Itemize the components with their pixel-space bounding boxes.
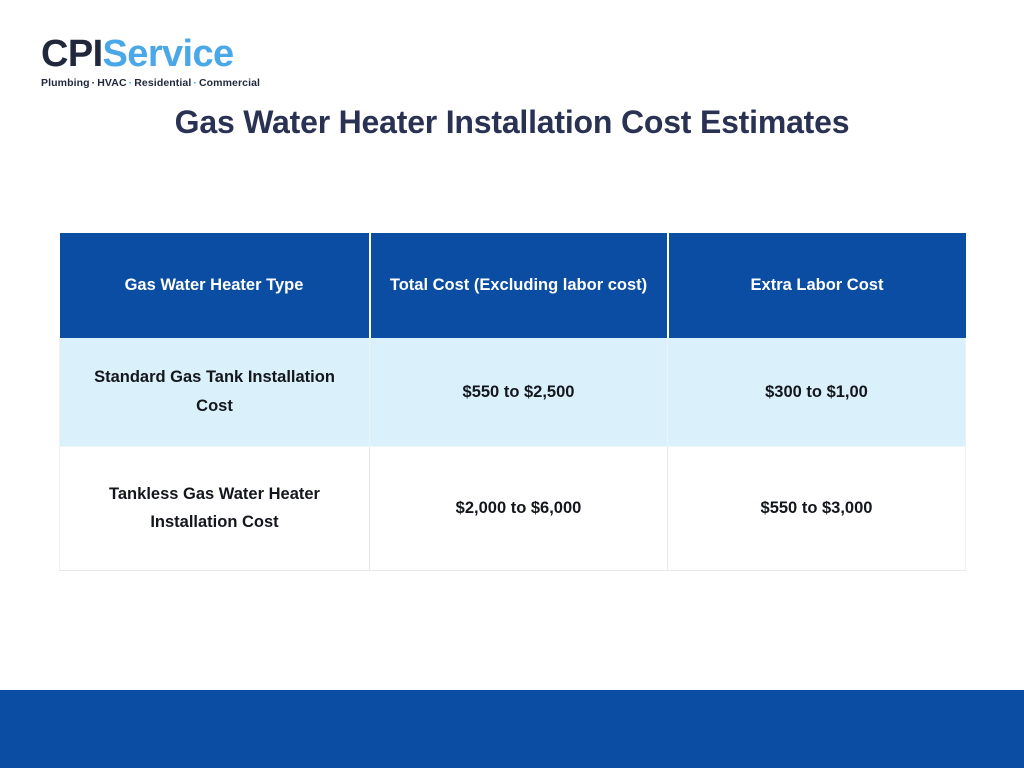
cell-extra-labor-cost: $300 to $1,00	[668, 338, 966, 446]
cost-estimates-table: Gas Water Heater Type Total Cost (Exclud…	[59, 233, 966, 571]
table-header-row: Gas Water Heater Type Total Cost (Exclud…	[60, 233, 966, 338]
logo-wordmark: CPIService	[41, 35, 341, 74]
infographic-page: CPIService Plumbing·HVAC·Residential·Com…	[0, 0, 1024, 768]
cell-extra-labor-cost: $550 to $3,000	[668, 446, 966, 570]
tagline-item-commercial: Commercial	[199, 77, 260, 89]
tagline-item-plumbing: Plumbing	[41, 77, 90, 89]
tagline-dot-3: ·	[191, 77, 199, 89]
table-header: Gas Water Heater Type Total Cost (Exclud…	[60, 233, 966, 338]
cell-heater-type: Standard Gas Tank Installation Cost	[60, 338, 370, 446]
cell-total-cost: $550 to $2,500	[370, 338, 668, 446]
tagline-item-residential: Residential	[134, 77, 191, 89]
column-header-total-cost: Total Cost (Excluding labor cost)	[370, 233, 668, 338]
tagline-item-hvac: HVAC	[97, 77, 126, 89]
brand-logo: CPIService Plumbing·HVAC·Residential·Com…	[41, 35, 341, 89]
page-title: Gas Water Heater Installation Cost Estim…	[162, 100, 862, 145]
logo-tagline: Plumbing·HVAC·Residential·Commercial	[41, 77, 341, 89]
cell-heater-type: Tankless Gas Water Heater Installation C…	[60, 446, 370, 570]
logo-text-service: Service	[103, 33, 234, 75]
table-row: Tankless Gas Water Heater Installation C…	[60, 446, 966, 570]
column-header-type: Gas Water Heater Type	[60, 233, 370, 338]
logo-text-cpi: CPI	[41, 33, 103, 75]
column-header-extra-labor-cost: Extra Labor Cost	[668, 233, 966, 338]
footer-bar	[0, 690, 1024, 768]
cell-total-cost: $2,000 to $6,000	[370, 446, 668, 570]
table-body: Standard Gas Tank Installation Cost $550…	[60, 338, 966, 570]
table-row: Standard Gas Tank Installation Cost $550…	[60, 338, 966, 446]
